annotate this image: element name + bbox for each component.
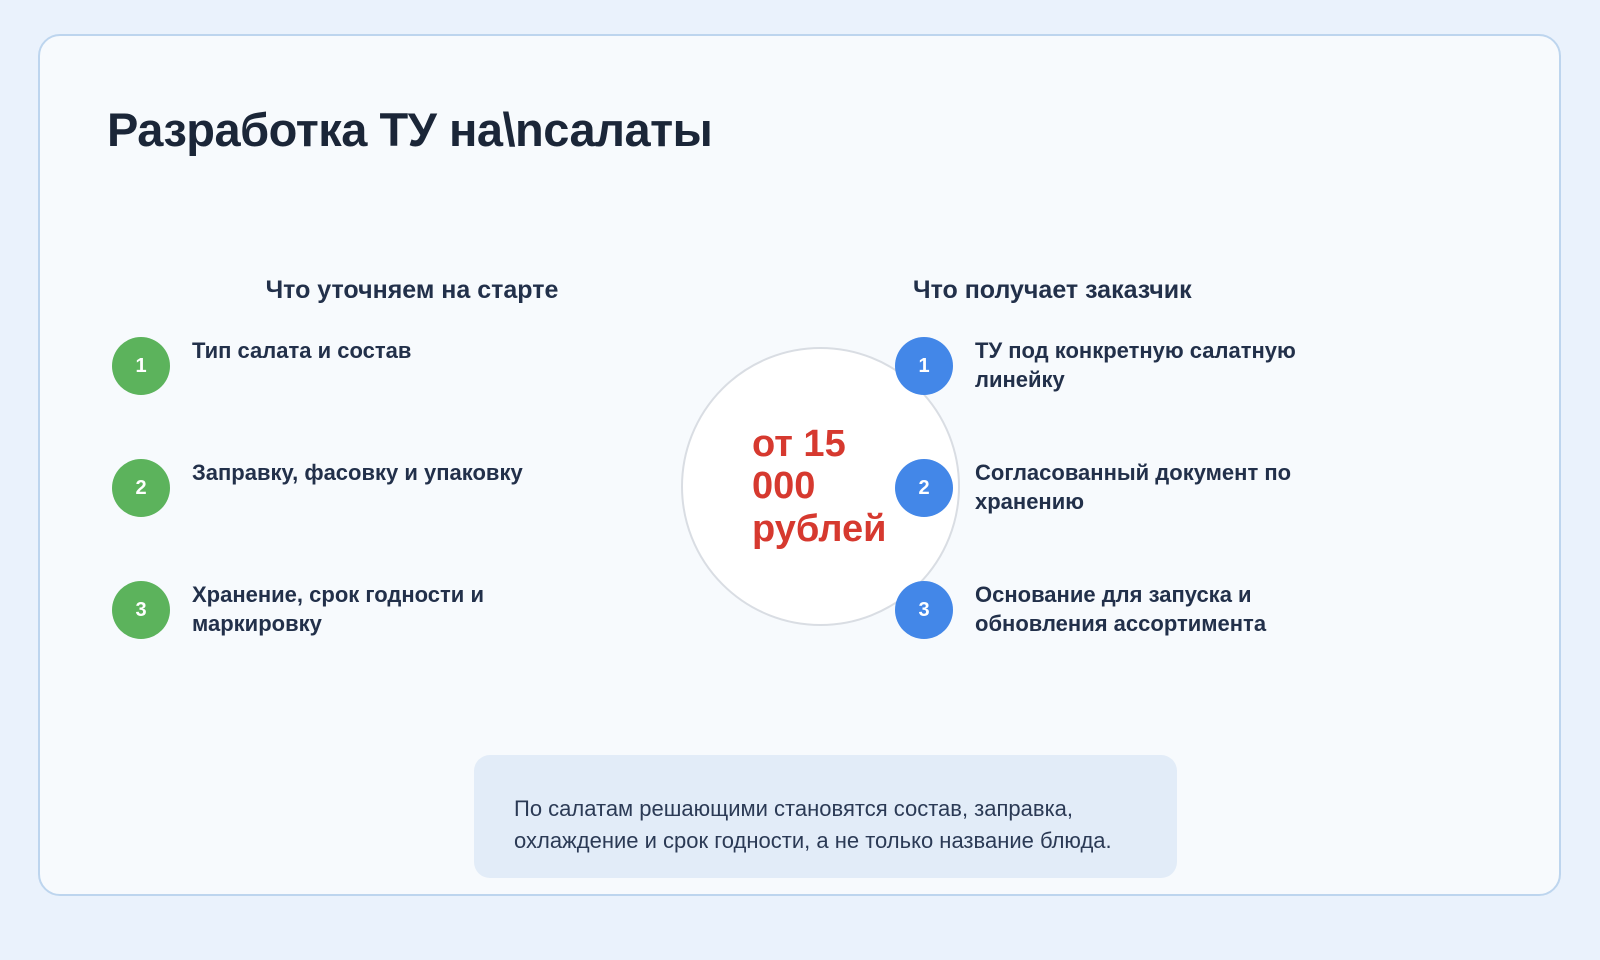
column-right-heading: Что получает заказчик xyxy=(895,276,1505,305)
list-item-label: Основание для запуска и обновления ассор… xyxy=(975,575,1355,638)
step-badge: 1 xyxy=(895,337,953,395)
column-left-list: 1 Тип салата и состав 2 Заправку, фасовк… xyxy=(112,331,712,697)
note-box: По салатам решающими становятся состав, … xyxy=(474,755,1177,878)
page-title: Разработка ТУ на\nсалаты xyxy=(107,102,712,157)
step-badge: 1 xyxy=(112,337,170,395)
list-item-label: Тип салата и состав xyxy=(192,331,411,365)
step-badge: 2 xyxy=(112,459,170,517)
list-item: 3 Основание для запуска и обновления асс… xyxy=(895,575,1505,697)
list-item: 1 ТУ под конкретную салатную линейку xyxy=(895,331,1505,453)
list-item-label: ТУ под конкретную салатную линейку xyxy=(975,331,1355,394)
slide-card: Разработка ТУ на\nсалаты Что уточняем на… xyxy=(38,34,1561,896)
list-item-label: Согласованный документ по хранению xyxy=(975,453,1355,516)
list-item: 2 Согласованный документ по хранению xyxy=(895,453,1505,575)
column-right: Что получает заказчик 1 ТУ под конкретну… xyxy=(895,276,1505,697)
column-left-heading: Что уточняем на старте xyxy=(112,276,712,305)
step-badge: 3 xyxy=(112,581,170,639)
list-item: 3 Хранение, срок годности и маркировку xyxy=(112,575,712,697)
column-left: Что уточняем на старте 1 Тип салата и со… xyxy=(112,276,712,697)
list-item-label: Хранение, срок годности и маркировку xyxy=(192,575,562,638)
note-text: По салатам решающими становятся состав, … xyxy=(514,793,1136,857)
list-item: 1 Тип салата и состав xyxy=(112,331,712,453)
step-badge: 3 xyxy=(895,581,953,639)
list-item-label: Заправку, фасовку и упаковку xyxy=(192,453,523,487)
list-item: 2 Заправку, фасовку и упаковку xyxy=(112,453,712,575)
price-label: от 15 000 рублей xyxy=(752,423,907,551)
column-right-list: 1 ТУ под конкретную салатную линейку 2 С… xyxy=(895,331,1505,697)
step-badge: 2 xyxy=(895,459,953,517)
